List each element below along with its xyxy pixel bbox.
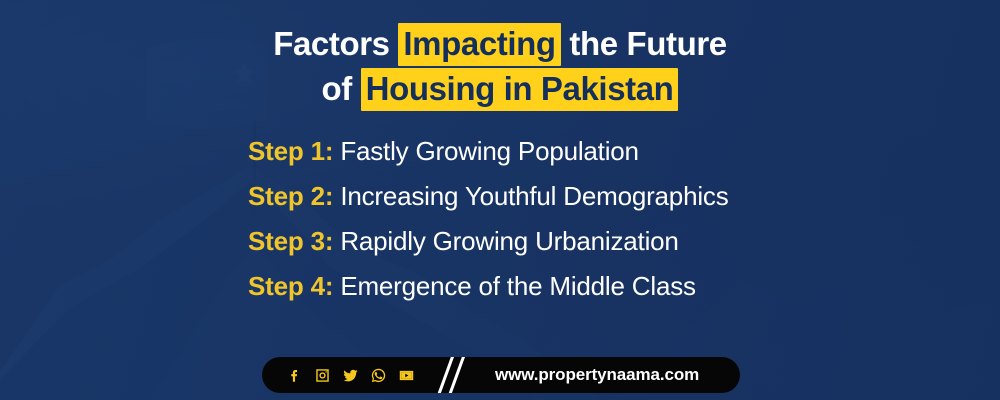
list-item-step-4: Step 4: Emergence of the Middle Class <box>248 273 948 299</box>
website-url[interactable]: www.propertynaama.com <box>495 365 699 385</box>
whatsapp-icon[interactable] <box>370 367 387 384</box>
title-plain-a: Factors <box>273 25 398 62</box>
list-item-step-2: Step 2: Increasing Youthful Demographics <box>248 183 948 209</box>
title-highlight-impacting: Impacting <box>398 23 560 66</box>
list-item-step-1: Step 1: Fastly Growing Population <box>248 138 948 164</box>
title-plain-of: of <box>322 70 361 107</box>
youtube-icon[interactable] <box>398 367 415 384</box>
divider-slashes <box>433 357 481 393</box>
page-title: Factors Impacting the Future of Housing … <box>0 26 1000 106</box>
step-3-text: Rapidly Growing Urbanization <box>333 226 678 256</box>
step-2-text: Increasing Youthful Demographics <box>333 181 728 211</box>
title-highlight-housing: Housing in Pakistan <box>361 68 679 111</box>
step-4-text: Emergence of the Middle Class <box>333 271 696 301</box>
twitter-icon[interactable] <box>342 367 359 384</box>
step-2-label: Step 2: <box>248 181 333 211</box>
list-item-step-3: Step 3: Rapidly Growing Urbanization <box>248 228 948 254</box>
step-1-text: Fastly Growing Population <box>333 136 639 166</box>
steps-list: Step 1: Fastly Growing Population Step 2… <box>248 138 948 299</box>
facebook-icon[interactable] <box>286 367 303 384</box>
step-1-label: Step 1: <box>248 136 333 166</box>
title-plain-b: the Future <box>561 25 727 62</box>
instagram-icon[interactable] <box>314 367 331 384</box>
title-line-1: Factors Impacting the Future <box>0 26 1000 62</box>
social-links-group <box>262 367 415 384</box>
step-4-label: Step 4: <box>248 271 333 301</box>
title-line-2: of Housing in Pakistan <box>0 71 1000 107</box>
step-3-label: Step 3: <box>248 226 333 256</box>
banner-root: Factors Impacting the Future of Housing … <box>0 0 1000 400</box>
banner-content: Factors Impacting the Future of Housing … <box>0 0 1000 400</box>
footer-bar: www.propertynaama.com <box>262 357 740 393</box>
